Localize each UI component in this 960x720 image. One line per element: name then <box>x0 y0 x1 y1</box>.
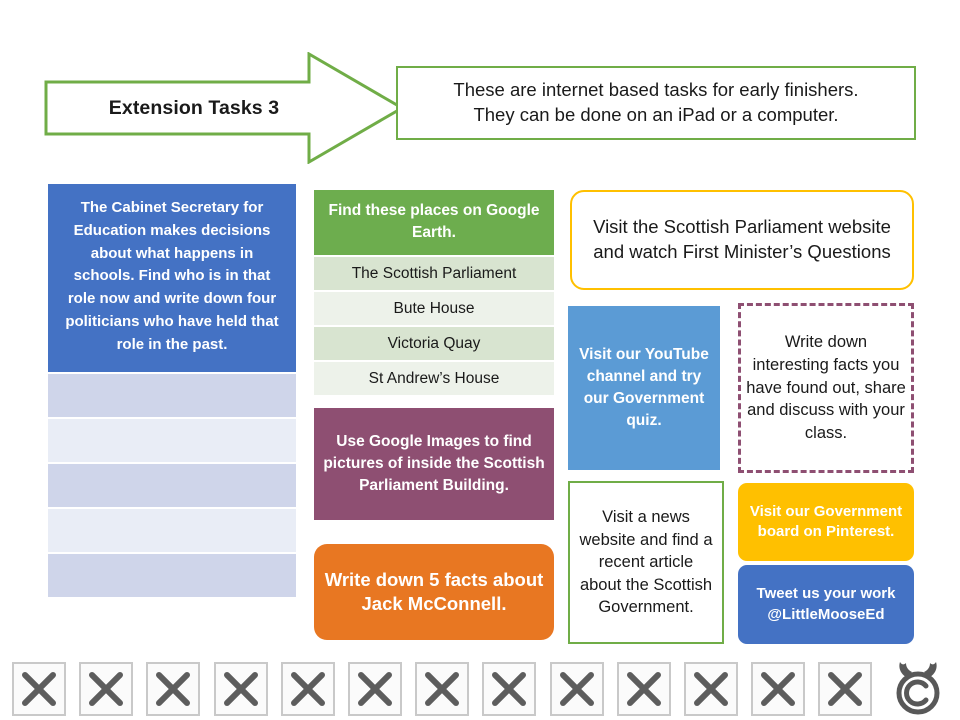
answer-row-4[interactable] <box>48 509 296 552</box>
broken-image-x-icon <box>684 662 738 716</box>
broken-image-x-icon <box>617 662 671 716</box>
youtube-quiz-task-card: Visit our YouTube channel and try our Go… <box>568 306 720 470</box>
answer-row-2[interactable] <box>48 419 296 462</box>
google-earth-header: Find these places on Google Earth. <box>314 190 554 255</box>
google-earth-table: Find these places on Google Earth. The S… <box>314 190 554 395</box>
broken-image-x-icon <box>818 662 872 716</box>
arrow-title: Extension Tasks 3 <box>44 52 344 164</box>
broken-image-x-icon <box>751 662 805 716</box>
google-earth-place-2: Bute House <box>314 292 554 325</box>
intro-callout: These are internet based tasks for early… <box>396 66 916 140</box>
pinterest-task-card: Visit our Government board on Pinterest. <box>738 483 914 561</box>
broken-image-x-icon <box>214 662 268 716</box>
broken-image-x-icon <box>79 662 133 716</box>
broken-image-x-icon <box>550 662 604 716</box>
google-earth-place-3: Victoria Quay <box>314 327 554 360</box>
moose-copyright-logo <box>886 656 950 718</box>
cabinet-secretary-task: The Cabinet Secretary for Education make… <box>48 184 296 372</box>
broken-image-x-icon <box>348 662 402 716</box>
broken-image-x-icon <box>415 662 469 716</box>
twitter-task-card: Tweet us your work @LittleMooseEd <box>738 565 914 644</box>
intro-text: These are internet based tasks for early… <box>453 78 858 128</box>
broken-image-x-icon <box>482 662 536 716</box>
answer-row-5[interactable] <box>48 554 296 597</box>
scottish-parliament-task-card: Visit the Scottish Parliament website an… <box>570 190 914 290</box>
slide-canvas: Extension Tasks 3 These are internet bas… <box>0 0 960 720</box>
broken-image-strip <box>0 658 960 720</box>
google-earth-place-1: The Scottish Parliament <box>314 257 554 290</box>
google-earth-place-4: St Andrew’s House <box>314 362 554 395</box>
write-facts-task-card: Write down interesting facts you have fo… <box>738 303 914 473</box>
cabinet-secretary-table: The Cabinet Secretary for Education make… <box>48 184 296 597</box>
intro-line-2: They can be done on an iPad or a compute… <box>473 104 838 125</box>
answer-row-3[interactable] <box>48 464 296 507</box>
broken-image-x-icon <box>146 662 200 716</box>
broken-image-x-icon <box>12 662 66 716</box>
news-article-task-card: Visit a news website and find a recent a… <box>568 481 724 644</box>
jack-mcconnell-task-card: Write down 5 facts about Jack McConnell. <box>314 544 554 640</box>
google-images-task-card: Use Google Images to find pictures of in… <box>314 408 554 520</box>
answer-row-1[interactable] <box>48 374 296 417</box>
broken-image-x-icon <box>281 662 335 716</box>
intro-line-1: These are internet based tasks for early… <box>453 79 858 100</box>
extension-tasks-arrow: Extension Tasks 3 <box>44 52 404 164</box>
